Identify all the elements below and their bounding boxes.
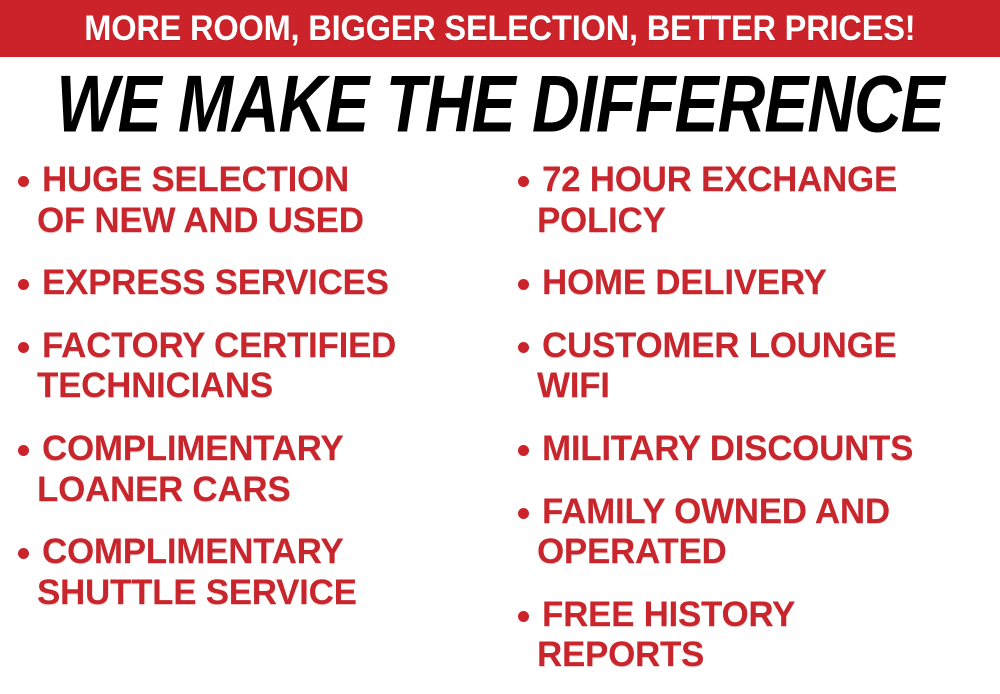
list-item: MILITARY DISCOUNTS bbox=[518, 429, 998, 470]
list-item-line1: HUGE SELECTION bbox=[42, 160, 349, 199]
list-item-line2: OPERATED bbox=[537, 532, 890, 573]
benefits-column-left: HUGE SELECTION OF NEW AND USED EXPRESS S… bbox=[0, 160, 500, 635]
list-item-line1: COMPLIMENTARY bbox=[42, 532, 343, 571]
list-item: FREE HISTORY REPORTS bbox=[518, 595, 998, 676]
list-item-label: HUGE SELECTION OF NEW AND USED bbox=[42, 160, 364, 241]
list-item: COMPLIMENTARY SHUTTLE SERVICE bbox=[18, 532, 492, 613]
top-banner-text: MORE ROOM, BIGGER SELECTION, BETTER PRIC… bbox=[84, 11, 915, 46]
list-item-line2: OF NEW AND USED bbox=[37, 201, 364, 242]
headline-text: WE MAKE THE DIFFERENCE bbox=[56, 62, 943, 147]
list-item-line1: EXPRESS SERVICES bbox=[42, 263, 389, 302]
list-item-line2: TECHNICIANS bbox=[37, 366, 396, 407]
list-item-line2: REPORTS bbox=[537, 635, 795, 676]
list-item: HUGE SELECTION OF NEW AND USED bbox=[18, 160, 492, 241]
list-item-label: 72 HOUR EXCHANGE POLICY bbox=[542, 160, 897, 241]
list-item-line2: SHUTTLE SERVICE bbox=[37, 573, 357, 614]
billboard-ad: MORE ROOM, BIGGER SELECTION, BETTER PRIC… bbox=[0, 0, 1000, 694]
list-item-line2: LOANER CARS bbox=[37, 470, 343, 511]
list-item: CUSTOMER LOUNGE WIFI bbox=[518, 326, 998, 407]
list-item-line2: POLICY bbox=[537, 201, 897, 242]
bullet-dot-icon bbox=[18, 279, 29, 290]
list-item-label: CUSTOMER LOUNGE WIFI bbox=[542, 326, 897, 407]
list-item-label: MILITARY DISCOUNTS bbox=[542, 429, 913, 470]
list-item-line1: FACTORY CERTIFIED bbox=[42, 326, 396, 365]
bullet-dot-icon bbox=[18, 176, 29, 187]
list-item: HOME DELIVERY bbox=[518, 263, 998, 304]
list-item-label: FREE HISTORY REPORTS bbox=[542, 595, 795, 676]
list-item-label: FACTORY CERTIFIED TECHNICIANS bbox=[42, 326, 396, 407]
list-item-label: HOME DELIVERY bbox=[542, 263, 827, 304]
list-item-line1: HOME DELIVERY bbox=[542, 263, 827, 302]
benefits-column-right: 72 HOUR EXCHANGE POLICY HOME DELIVERY CU… bbox=[500, 160, 1000, 694]
benefits-columns: HUGE SELECTION OF NEW AND USED EXPRESS S… bbox=[0, 160, 1000, 694]
list-item: EXPRESS SERVICES bbox=[18, 263, 492, 304]
list-item-line1: FAMILY OWNED AND bbox=[542, 492, 890, 531]
bullet-dot-icon bbox=[518, 279, 529, 290]
list-item-line1: COMPLIMENTARY bbox=[42, 429, 343, 468]
top-banner: MORE ROOM, BIGGER SELECTION, BETTER PRIC… bbox=[0, 0, 1000, 57]
bullet-dot-icon bbox=[18, 548, 29, 559]
list-item: FACTORY CERTIFIED TECHNICIANS bbox=[18, 326, 492, 407]
headline: WE MAKE THE DIFFERENCE bbox=[0, 62, 1000, 131]
list-item-line1: MILITARY DISCOUNTS bbox=[542, 429, 913, 468]
bullet-dot-icon bbox=[518, 508, 529, 519]
bullet-dot-icon bbox=[18, 445, 29, 456]
list-item-label: EXPRESS SERVICES bbox=[42, 263, 389, 304]
list-item-label: COMPLIMENTARY LOANER CARS bbox=[42, 429, 343, 510]
list-item-line1: FREE HISTORY bbox=[542, 595, 795, 634]
list-item: 72 HOUR EXCHANGE POLICY bbox=[518, 160, 998, 241]
list-item-line2: WIFI bbox=[537, 366, 897, 407]
list-item-label: COMPLIMENTARY SHUTTLE SERVICE bbox=[42, 532, 357, 613]
list-item: COMPLIMENTARY LOANER CARS bbox=[18, 429, 492, 510]
list-item-line1: CUSTOMER LOUNGE bbox=[542, 326, 897, 365]
list-item: FAMILY OWNED AND OPERATED bbox=[518, 492, 998, 573]
bullet-dot-icon bbox=[518, 445, 529, 456]
bullet-dot-icon bbox=[518, 611, 529, 622]
list-item-label: FAMILY OWNED AND OPERATED bbox=[542, 492, 890, 573]
bullet-dot-icon bbox=[518, 342, 529, 353]
bullet-dot-icon bbox=[18, 342, 29, 353]
list-item-line1: 72 HOUR EXCHANGE bbox=[542, 160, 897, 199]
bullet-dot-icon bbox=[518, 176, 529, 187]
